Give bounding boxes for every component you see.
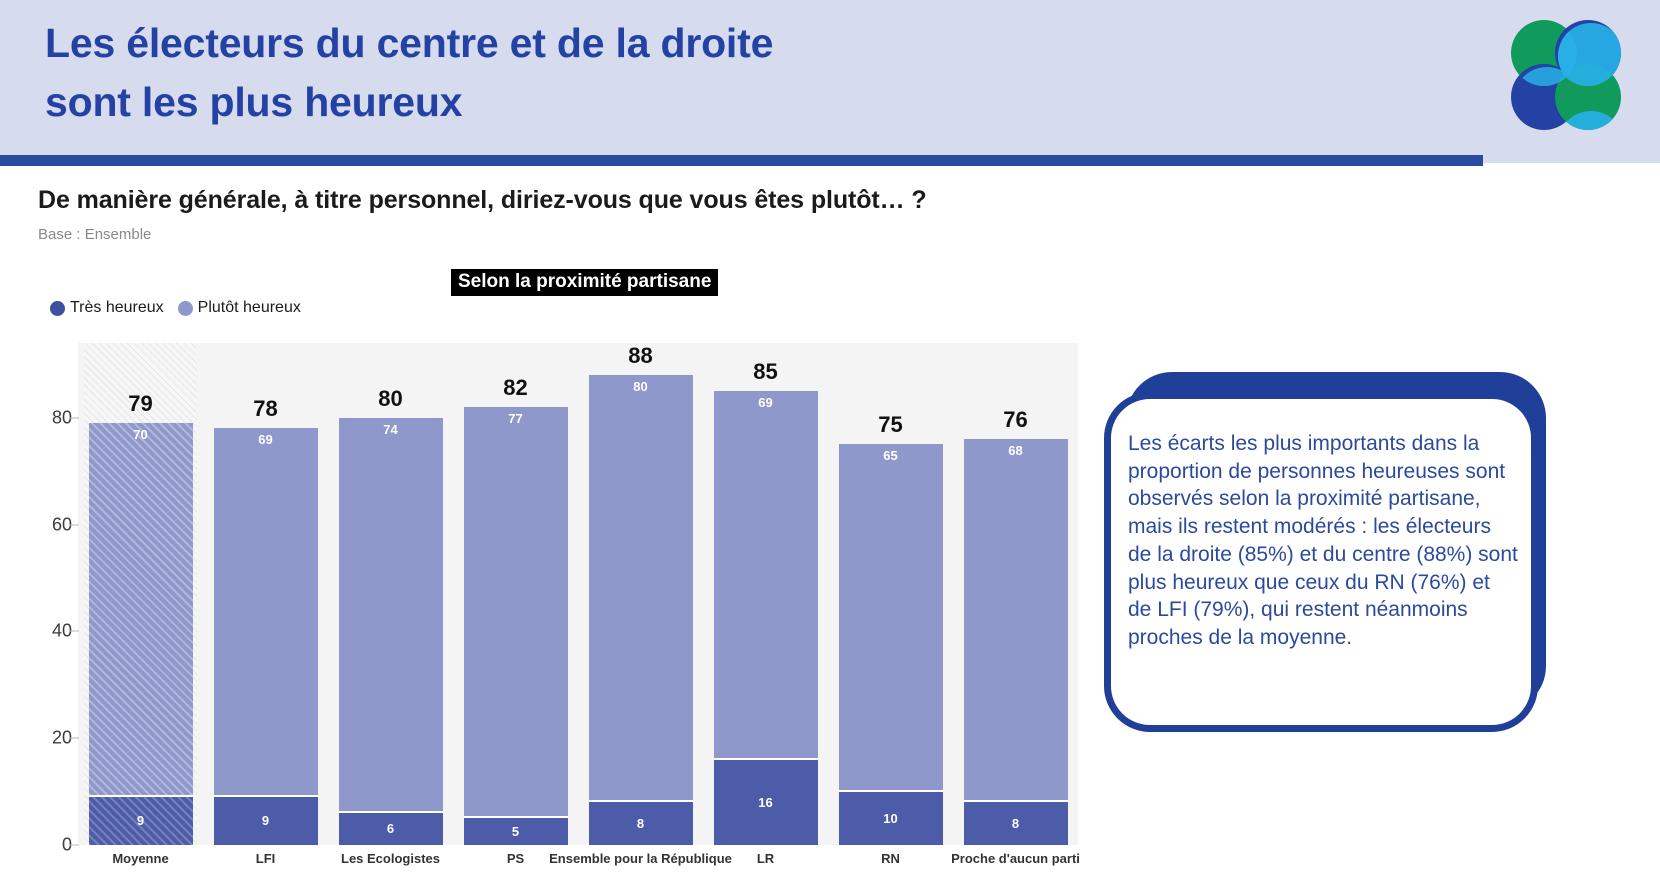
bar-total-label: 85 xyxy=(714,359,818,385)
bar-segment-value: 16 xyxy=(758,795,772,810)
bar-segment-value: 10 xyxy=(883,811,897,826)
chart-legend: Très heureux Plutôt heureux xyxy=(50,299,301,317)
slide-root: Les électeurs du centre et de la droite … xyxy=(0,0,1660,889)
x-axis-category-label: Proche d'aucun parti xyxy=(891,851,1141,866)
question-text: De manière générale, à titre personnel, … xyxy=(38,186,1138,215)
four-circles-logo xyxy=(1508,17,1624,133)
page-title-line1: Les électeurs du centre et de la droite xyxy=(45,14,1345,73)
bar-segment-value: 6 xyxy=(387,821,394,836)
bar-segment-value: 5 xyxy=(512,824,519,839)
bar-total-label: 80 xyxy=(339,386,443,412)
bar-segment-plutot-heureux[interactable]: 69 xyxy=(214,428,318,796)
bar-column[interactable]: 746 xyxy=(339,343,443,845)
bar-chart: 020406080 709796997874680775828088869168… xyxy=(78,343,1078,845)
bar-segment-tres-heureux[interactable]: 10 xyxy=(839,792,943,845)
bar-segment-value: 77 xyxy=(464,411,568,426)
bar-segment-value: 68 xyxy=(964,443,1068,458)
legend-dot-icon xyxy=(178,301,193,316)
legend-label: Plutôt heureux xyxy=(198,299,301,317)
bar-segment-value: 8 xyxy=(1012,816,1019,831)
page-title-line2: sont les plus heureux xyxy=(45,73,1345,132)
bar-total-label: 75 xyxy=(839,412,943,438)
bar-segment-tres-heureux[interactable]: 8 xyxy=(589,802,693,845)
bar-segment-value: 65 xyxy=(839,448,943,463)
base-label: Base : Ensemble xyxy=(38,226,151,243)
bar-segment-value: 69 xyxy=(714,395,818,410)
bar-total-label: 82 xyxy=(464,375,568,401)
bar-column[interactable]: 709 xyxy=(89,343,193,845)
bar-column[interactable]: 775 xyxy=(464,343,568,845)
legend-item-tres-heureux[interactable]: Très heureux xyxy=(50,299,164,317)
legend-dot-icon xyxy=(50,301,65,316)
y-axis-tick-label: 60 xyxy=(52,514,72,535)
legend-item-plutot-heureux[interactable]: Plutôt heureux xyxy=(178,299,301,317)
bar-total-label: 76 xyxy=(964,407,1068,433)
callout-text: Les écarts les plus importants dans la p… xyxy=(1128,430,1518,652)
y-axis: 020406080 xyxy=(18,343,78,845)
chart-subtitle-chip: Selon la proximité partisane xyxy=(451,269,718,296)
legend-label: Très heureux xyxy=(70,299,164,317)
bar-segment-value: 8 xyxy=(637,816,644,831)
bar-segment-tres-heureux[interactable]: 16 xyxy=(714,760,818,845)
bar-segment-value: 74 xyxy=(339,422,443,437)
bar-segment-value: 69 xyxy=(214,432,318,447)
header-band: Les électeurs du centre et de la droite … xyxy=(0,0,1660,163)
bar-segment-plutot-heureux[interactable]: 68 xyxy=(964,439,1068,802)
bar-column[interactable]: 808 xyxy=(589,343,693,845)
bar-segment-plutot-heureux[interactable]: 80 xyxy=(589,375,693,802)
bar-segment-tres-heureux[interactable]: 9 xyxy=(214,797,318,845)
header-underline xyxy=(0,155,1483,166)
bar-segment-tres-heureux[interactable]: 9 xyxy=(89,797,193,845)
page-title: Les électeurs du centre et de la droite … xyxy=(45,14,1345,133)
bar-segment-plutot-heureux[interactable]: 77 xyxy=(464,407,568,818)
bar-segment-plutot-heureux[interactable]: 65 xyxy=(839,444,943,791)
bar-segment-value: 9 xyxy=(137,813,144,828)
bar-total-label: 78 xyxy=(214,396,318,422)
bars-layer: 7097969978746807758280888691685651075688… xyxy=(78,343,1078,845)
bar-segment-plutot-heureux[interactable]: 69 xyxy=(714,391,818,759)
y-axis-tick-label: 20 xyxy=(52,728,72,749)
y-axis-tick-label: 80 xyxy=(52,407,72,428)
bar-total-label: 79 xyxy=(89,391,193,417)
bar-segment-tres-heureux[interactable]: 8 xyxy=(964,802,1068,845)
bar-segment-value: 9 xyxy=(262,813,269,828)
bar-segment-value: 70 xyxy=(89,427,193,442)
bar-total-label: 88 xyxy=(589,343,693,369)
y-axis-tick-label: 40 xyxy=(52,621,72,642)
bar-segment-tres-heureux[interactable]: 6 xyxy=(339,813,443,845)
bar-segment-plutot-heureux[interactable]: 70 xyxy=(89,423,193,797)
bar-segment-plutot-heureux[interactable]: 74 xyxy=(339,418,443,813)
bar-column[interactable]: 6916 xyxy=(714,343,818,845)
bar-segment-value: 80 xyxy=(589,379,693,394)
bar-segment-tres-heureux[interactable]: 5 xyxy=(464,818,568,845)
